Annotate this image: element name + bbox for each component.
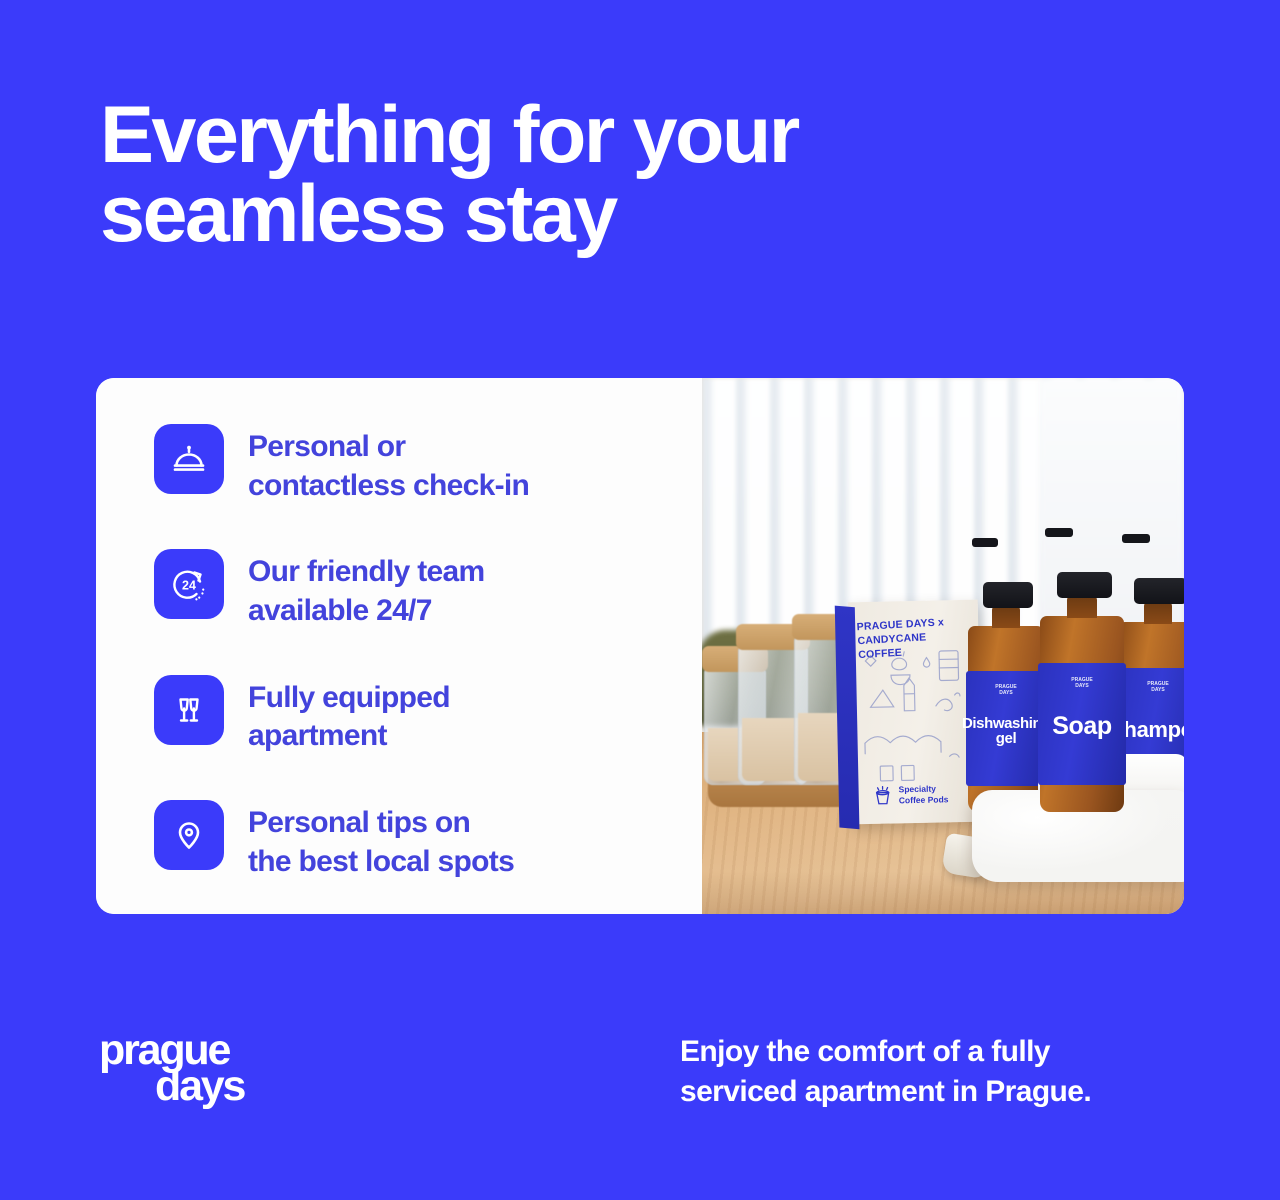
feature-line-2: contactless check-in	[248, 469, 529, 502]
feature-line-1: Personal tips on	[248, 806, 470, 839]
bottle-name: Dishwashing	[962, 715, 1050, 732]
feature-label: Personal or contactless check-in	[248, 424, 529, 505]
coffee-pod-icon	[871, 783, 893, 807]
bottle-name: gel	[996, 730, 1016, 747]
feature-line-2: apartment	[248, 719, 387, 752]
coffee-bag-footer-line-1: Specialty	[899, 784, 937, 795]
coffee-bag: PRAGUE DAYS x CANDYCANE COFFEE	[848, 600, 983, 825]
bottle-brand: DAYS	[1075, 683, 1088, 689]
feature-item-local-tips[interactable]: Personal tips on the best local spots	[154, 800, 702, 881]
feature-label: Our friendly team available 24/7	[248, 549, 485, 630]
tagline-line-1: Enjoy the comfort of a fully	[680, 1032, 1220, 1072]
feature-label: Personal tips on the best local spots	[248, 800, 514, 881]
prague-doodles	[857, 640, 976, 790]
promo-banner: Everything for your seamless stay Person…	[0, 0, 1280, 1200]
bottle-name: Soap	[1052, 712, 1112, 740]
feature-line-2: the best local spots	[248, 845, 514, 878]
coffee-bag-title-line-1: PRAGUE DAYS x	[856, 616, 944, 633]
clock-24-7-icon: 24	[154, 549, 224, 619]
bottle-brand: DAYS	[999, 690, 1012, 696]
feature-line-1: Fully equipped	[248, 681, 450, 714]
bottle-soap: PRAGUE DAYS Soap	[1040, 616, 1124, 812]
feature-item-support[interactable]: 24 Our friendly team available 24/7	[154, 549, 702, 630]
headline-line-1: Everything for your	[100, 96, 1160, 175]
bottle-brand: DAYS	[1151, 687, 1164, 693]
headline-line-2: seamless stay	[100, 175, 1160, 254]
features-list: Personal or contactless check-in 24 Our …	[96, 378, 702, 914]
feature-line-1: Our friendly team	[248, 555, 485, 588]
tagline-line-2: serviced apartment in Prague.	[680, 1072, 1220, 1112]
features-card: Personal or contactless check-in 24 Our …	[96, 378, 1184, 914]
coffee-bag-footer-line-2: Coffee Pods	[899, 794, 949, 805]
svg-text:24: 24	[182, 579, 196, 593]
feature-line-1: Personal or	[248, 430, 405, 463]
feature-item-apartment[interactable]: Fully equipped apartment	[154, 675, 702, 756]
map-pin-icon	[154, 800, 224, 870]
footer-tagline: Enjoy the comfort of a fully serviced ap…	[680, 1032, 1220, 1112]
concierge-bell-icon	[154, 424, 224, 494]
feature-line-2: available 24/7	[248, 594, 432, 627]
feature-label: Fully equipped apartment	[248, 675, 450, 756]
feature-item-check-in[interactable]: Personal or contactless check-in	[154, 424, 702, 505]
brand-logo[interactable]: prague days	[99, 1032, 244, 1106]
wine-glasses-icon	[154, 675, 224, 745]
coffee-bag-spine	[835, 605, 860, 829]
coffee-bag-footer: Specialty Coffee Pods	[871, 782, 948, 808]
bottle-dishwashing-gel: PRAGUE DAYS Dishwashing gel	[968, 626, 1044, 812]
amenities-photo: PRAGUE DAYS x CANDYCANE COFFEE	[702, 378, 1184, 914]
page-title: Everything for your seamless stay	[100, 96, 1160, 255]
